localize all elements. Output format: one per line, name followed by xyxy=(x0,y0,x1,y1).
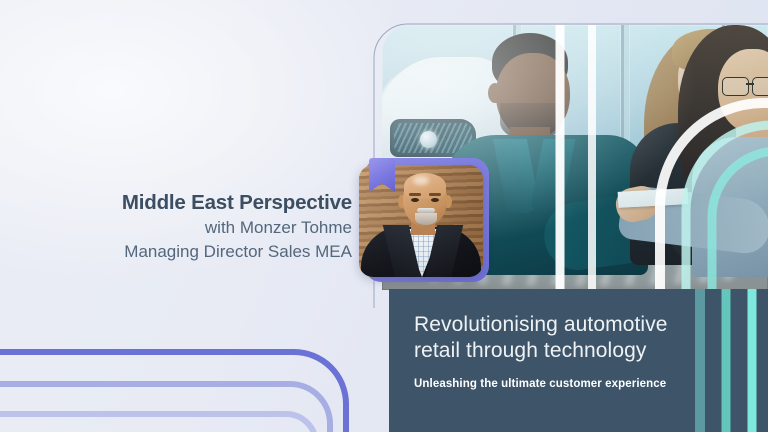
speaker-text-block: Middle East Perspective with Monzer Tohm… xyxy=(0,190,352,264)
corner-lines-decoration xyxy=(0,300,374,432)
caption-panel: Revolutionising automotive retail throug… xyxy=(389,289,768,432)
slide-canvas: Revolutionising automotive retail throug… xyxy=(0,0,768,432)
speaker-role: Managing Director Sales MEA xyxy=(0,240,352,264)
speaker-name: with Monzer Tohme xyxy=(0,216,352,240)
panel-arc-lines xyxy=(389,289,768,432)
page-title: Middle East Perspective xyxy=(0,190,352,216)
